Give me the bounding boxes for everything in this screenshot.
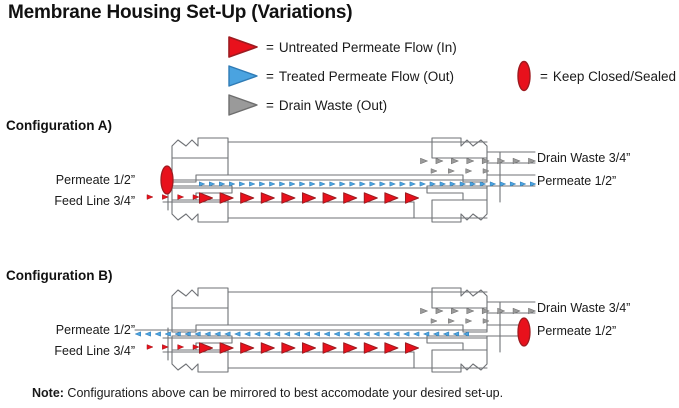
legend-label: Keep Closed/Sealed <box>553 69 676 84</box>
legend-equals: = <box>540 69 548 84</box>
flow-arrow <box>334 332 340 336</box>
flow-arrow <box>145 332 151 336</box>
legend-label: Treated Permeate Flow (Out) <box>279 69 454 84</box>
right-endcap-bottom <box>432 350 487 372</box>
legend-equals: = <box>266 98 274 113</box>
flow-arrow <box>483 169 489 174</box>
left-endcap-mid <box>172 308 228 332</box>
left-endcap-top <box>172 138 228 158</box>
flow-arrow <box>380 182 386 186</box>
flow-arrow <box>394 332 400 336</box>
flow-arrow <box>451 308 458 314</box>
footer-note-prefix: Note: <box>32 386 64 400</box>
flow-arrow <box>340 182 346 186</box>
flow-arrow <box>135 332 141 336</box>
flow-arrow <box>255 332 261 336</box>
flow-arrow <box>466 169 472 174</box>
config-a-feed-small-arrows <box>147 195 199 200</box>
flow-arrow <box>404 332 410 336</box>
legend-equals: = <box>266 40 274 55</box>
flow-arrow <box>436 308 443 314</box>
flow-arrow <box>300 182 306 186</box>
config-b-drain-lower-arrows <box>431 319 489 324</box>
config-b-feed-small-arrows <box>147 345 199 350</box>
legend: = Untreated Permeate Flow (In) = Treated… <box>0 30 679 120</box>
flow-arrow <box>330 182 336 186</box>
config-a-drain-lower-arrows <box>431 169 489 174</box>
right-endcap-top <box>432 288 487 308</box>
flow-arrow <box>279 182 285 186</box>
flow-arrow <box>178 195 184 200</box>
flow-arrow <box>239 182 245 186</box>
flow-arrow <box>310 182 316 186</box>
flow-arrow <box>384 332 390 336</box>
flow-arrow <box>314 332 320 336</box>
flow-arrow <box>451 158 458 164</box>
flow-arrow <box>410 182 416 186</box>
flow-arrow <box>466 319 472 324</box>
legend-item-untreated-permeate: = Untreated Permeate Flow (In) <box>228 36 457 58</box>
flow-arrow <box>324 332 330 336</box>
flow-arrow <box>269 182 275 186</box>
flow-arrow <box>155 332 161 336</box>
flow-arrow <box>274 332 280 336</box>
flow-arrow <box>249 182 255 186</box>
flow-arrow <box>390 182 396 186</box>
right-endcap-top <box>432 138 487 158</box>
right-endcap-bottom <box>432 200 487 222</box>
flow-arrow <box>431 319 437 324</box>
flow-arrow <box>178 345 184 350</box>
flow-arrow <box>423 332 429 336</box>
flow-arrow <box>354 332 360 336</box>
flow-arrow <box>162 345 168 350</box>
flow-arrow <box>431 169 437 174</box>
footer-note-text: Configurations above can be mirrored to … <box>64 386 503 400</box>
flow-arrow <box>448 169 454 174</box>
flow-arrow <box>290 182 296 186</box>
flow-arrow <box>360 182 366 186</box>
flow-arrow <box>294 332 300 336</box>
flow-arrow <box>235 332 241 336</box>
flow-arrow <box>350 182 356 186</box>
flow-arrow <box>344 332 350 336</box>
flow-arrow <box>320 182 326 186</box>
flow-arrow <box>467 158 474 164</box>
flow-arrow <box>370 182 376 186</box>
footer-note: Note: Configurations above can be mirror… <box>32 386 503 400</box>
left-endcap-mid <box>172 158 228 182</box>
legend-label: Drain Waste (Out) <box>279 98 387 113</box>
legend-item-drain-waste: = Drain Waste (Out) <box>228 94 387 116</box>
configuration-a-diagram <box>0 130 679 230</box>
legend-item-treated-permeate: = Treated Permeate Flow (Out) <box>228 65 454 87</box>
red-arrow-right-icon <box>228 36 258 58</box>
configuration-b-diagram <box>0 280 679 380</box>
flow-arrow <box>467 308 474 314</box>
gray-arrow-right-icon <box>228 94 258 116</box>
red-seal-ellipse-icon <box>516 60 532 92</box>
flow-arrow <box>245 332 251 336</box>
page-title: Membrane Housing Set-Up (Variations) <box>8 2 352 24</box>
flow-arrow <box>436 158 443 164</box>
flow-arrow <box>374 332 380 336</box>
config-a-seal-left <box>161 166 173 194</box>
flow-arrow <box>304 332 310 336</box>
config-b-seal-right <box>518 318 530 346</box>
flow-arrow <box>364 332 370 336</box>
flow-arrow <box>264 332 270 336</box>
legend-item-keep-closed: = Keep Closed/Sealed <box>516 60 676 92</box>
flow-arrow <box>400 182 406 186</box>
flow-arrow <box>420 182 426 186</box>
legend-equals: = <box>266 69 274 84</box>
flow-arrow <box>421 308 428 314</box>
flow-arrow <box>448 319 454 324</box>
flow-arrow <box>259 182 265 186</box>
flow-arrow <box>284 332 290 336</box>
blue-arrow-right-icon <box>228 65 258 87</box>
legend-label: Untreated Permeate Flow (In) <box>279 40 457 55</box>
flow-arrow <box>162 195 168 200</box>
flow-arrow <box>414 332 420 336</box>
flow-arrow <box>483 319 489 324</box>
flow-arrow <box>421 158 428 164</box>
flow-arrow <box>147 345 153 350</box>
flow-arrow <box>147 195 153 200</box>
left-endcap-top <box>172 288 228 308</box>
